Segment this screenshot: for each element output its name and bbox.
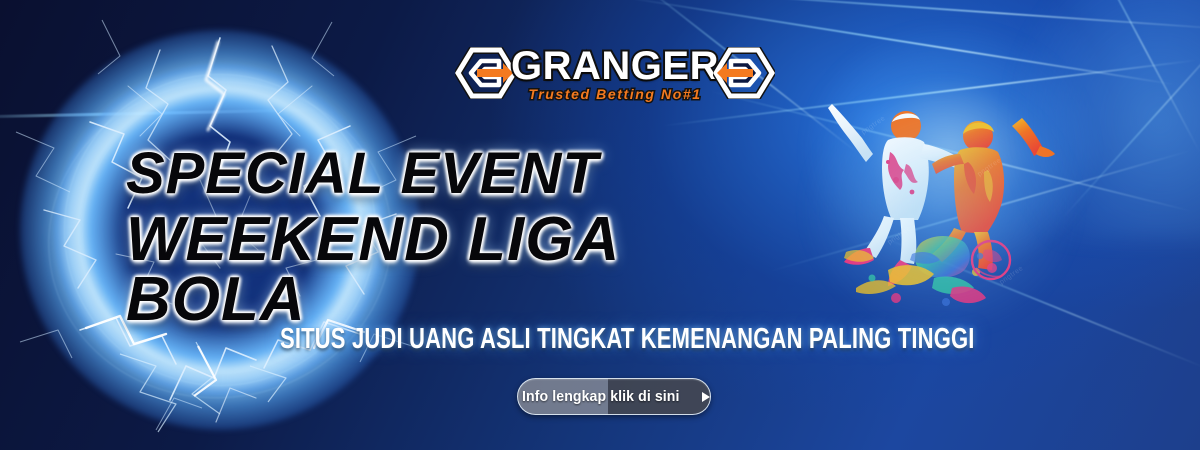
hexagon-g-arrow-icon — [455, 47, 517, 99]
headline-block: SPECIAL EVENT WEEKEND LIGA BOLA — [126, 146, 766, 331]
light-streak — [1059, 0, 1200, 154]
light-streak — [641, 0, 1200, 31]
soccer-players-artwork: pngtree pngtree pngtree pngtree — [826, 92, 1056, 314]
play-arrow-right-icon — [701, 391, 711, 403]
brand-wordmark-group: GRANGER Trusted Betting No#1 — [511, 46, 719, 101]
brand-logo[interactable]: GRANGER Trusted Betting No#1 — [455, 42, 775, 104]
headline-line-1: SPECIAL EVENT — [126, 146, 766, 202]
headline-line-2: WEEKEND LIGA BOLA — [126, 210, 766, 330]
info-cta-button[interactable]: Info lengkap klik di sini — [517, 378, 711, 415]
hexagon-arrow-icon — [713, 47, 775, 99]
promotional-banner: GRANGER Trusted Betting No#1 SPECIAL EVE… — [0, 0, 1200, 450]
brand-wordmark: GRANGER — [511, 46, 719, 86]
light-streak — [1062, 24, 1200, 219]
subtitle-text: SITUS JUDI UANG ASLI TINGKAT KEMENANGAN … — [280, 325, 782, 354]
brand-tagline: Trusted Betting No#1 — [511, 87, 719, 101]
cta-label: Info lengkap klik di sini — [522, 388, 679, 405]
